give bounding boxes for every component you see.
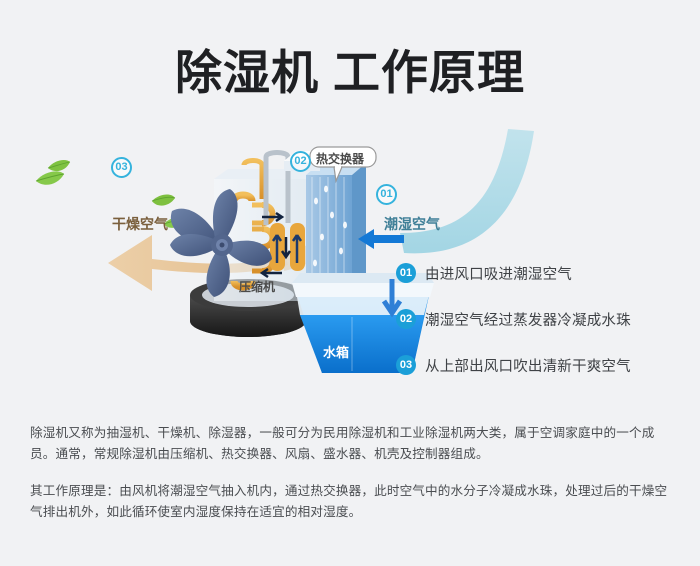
steps-legend: 01 由进风口吸进潮湿空气 02 潮湿空气经过蒸发器冷凝成水珠 03 从上部出风… (396, 255, 692, 383)
label-compressor: 压缩机 (239, 281, 275, 293)
title-part-2: 工作原理 (333, 46, 525, 99)
step-badge-01: 01 (396, 263, 416, 283)
legend-item-02: 02 潮湿空气经过蒸发器冷凝成水珠 (396, 301, 692, 337)
label-humid-air: 潮湿空气 (384, 217, 440, 231)
infographic-page: 除湿机工作原理 (0, 0, 700, 566)
diagram-badge-02: 02 (290, 151, 311, 172)
description-block: 除湿机又称为抽湿机、干燥机、除湿器，一般可分为民用除湿机和工业除湿机两大类，属于… (30, 423, 675, 523)
diagram-badge-03: 03 (111, 157, 132, 178)
page-title: 除湿机工作原理 (0, 34, 700, 103)
diagram-badge-01: 01 (376, 184, 397, 205)
step-badge-02: 02 (396, 309, 416, 329)
paragraph-2: 其工作原理是：由风机将潮湿空气抽入机内，通过热交换器，此时空气中的水分子冷凝成水… (30, 481, 675, 523)
title-part-1: 除湿机 (175, 46, 319, 99)
step-text-02: 潮湿空气经过蒸发器冷凝成水珠 (425, 309, 631, 330)
label-dry-air: 干燥空气 (112, 217, 168, 231)
step-text-03: 从上部出风口吹出清新干爽空气 (425, 355, 631, 376)
step-badge-03: 03 (396, 355, 416, 375)
legend-item-03: 03 从上部出风口吹出清新干爽空气 (396, 347, 692, 383)
paragraph-1: 除湿机又称为抽湿机、干燥机、除湿器，一般可分为民用除湿机和工业除湿机两大类，属于… (30, 423, 675, 465)
step-text-01: 由进风口吸进潮湿空气 (425, 263, 572, 284)
label-heat-exchanger: 热交换器 (316, 153, 364, 165)
label-water-tank: 水箱 (323, 346, 349, 359)
legend-item-01: 01 由进风口吸进潮湿空气 (396, 255, 692, 291)
